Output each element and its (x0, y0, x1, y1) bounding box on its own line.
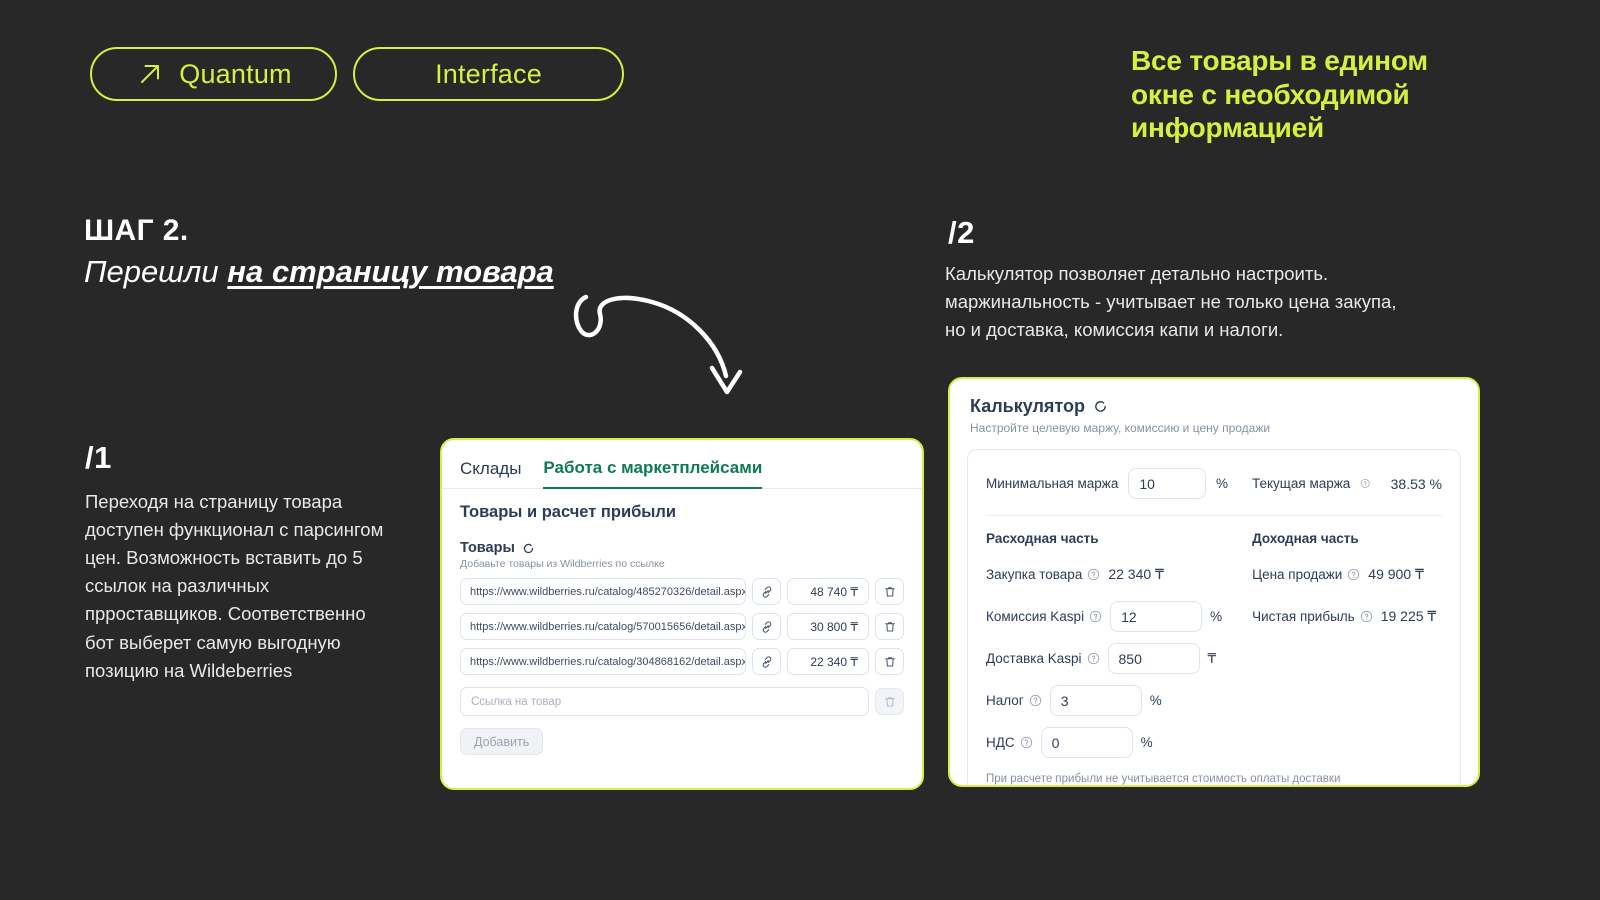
product-price-input[interactable]: 48 740 ₸ (787, 578, 869, 605)
brand-pill-quantum[interactable]: Quantum (90, 47, 337, 101)
product-row: https://www.wildberries.ru/catalog/30486… (460, 648, 904, 675)
expense-input[interactable]: 3 (1050, 685, 1142, 716)
marketplace-card-body: Товары и расчет прибыли Товары Добавьте … (442, 489, 922, 755)
expense-input[interactable]: 850 (1108, 643, 1200, 674)
expense-unit: ₸ (1208, 651, 1217, 667)
product-price-input[interactable]: 22 340 ₸ (787, 648, 869, 675)
step-subtitle-prefix: Перешли (84, 254, 227, 289)
min-margin-label: Минимальная маржа (986, 476, 1118, 491)
expense-label: Комиссия Kaspi (986, 609, 1084, 624)
step-subtitle: Перешли на страницу товара (84, 254, 554, 290)
product-url-input[interactable]: https://www.wildberries.ru/catalog/30486… (460, 648, 746, 675)
income-label: Чистая прибыль (1252, 609, 1355, 624)
trash-icon (883, 655, 897, 669)
current-margin-value: 38.53 % (1391, 476, 1442, 492)
question-circle-icon[interactable] (1089, 610, 1102, 623)
expense-row-commission: Комиссия Kaspi 12 % (986, 601, 1222, 632)
link-icon (760, 655, 774, 669)
new-product-delete-button[interactable] (875, 688, 904, 715)
expense-label: НДС (986, 735, 1015, 750)
question-circle-icon[interactable] (1029, 694, 1042, 707)
expense-heading: Расходная часть (986, 531, 1222, 546)
question-circle-icon[interactable] (1087, 652, 1100, 665)
headline: Все товары в едином окне с необходимой и… (1131, 44, 1471, 145)
products-note: Добавьте товары из Wildberries по ссылке (460, 558, 904, 570)
product-link-button[interactable] (752, 613, 781, 640)
trash-icon (883, 585, 897, 599)
brand-pill-interface-label: Interface (435, 59, 542, 90)
calculator-title-row: Калькулятор (970, 396, 1458, 417)
brand-pill-interface[interactable]: Interface (353, 47, 624, 101)
product-url-input[interactable]: https://www.wildberries.ru/catalog/57001… (460, 613, 746, 640)
refresh-icon[interactable] (522, 542, 535, 555)
section-two-paragraph: Калькулятор позволяет детально настроить… (945, 260, 1415, 344)
margin-row: Минимальная маржа 10 % Текущая маржа 38.… (986, 468, 1442, 516)
expense-unit: % (1150, 693, 1162, 708)
tab-warehouses[interactable]: Склады (460, 459, 521, 488)
products-heading-row: Товары (460, 540, 904, 556)
step-subtitle-emphasis: на страницу товара (227, 254, 554, 289)
expense-row-vat: НДС 0 % (986, 727, 1222, 758)
calculator-card: Калькулятор Настройте целевую маржу, ком… (948, 377, 1480, 787)
refresh-icon[interactable] (1093, 399, 1108, 414)
calculator-header: Калькулятор Настройте целевую маржу, ком… (950, 379, 1478, 435)
trash-icon (883, 620, 897, 634)
product-delete-button[interactable] (875, 613, 904, 640)
product-price-input[interactable]: 30 800 ₸ (787, 613, 869, 640)
product-delete-button[interactable] (875, 578, 904, 605)
question-circle-icon[interactable] (1360, 610, 1373, 623)
question-circle-icon[interactable] (1087, 568, 1100, 581)
expense-row-tax: Налог 3 % (986, 685, 1222, 716)
income-label: Цена продажи (1252, 567, 1342, 582)
product-url-input[interactable]: https://www.wildberries.ru/catalog/48527… (460, 578, 746, 605)
income-value: 49 900 ₸ (1368, 566, 1424, 583)
calculator-subtitle: Настройте целевую маржу, комиссию и цену… (970, 421, 1458, 435)
products-profit-title: Товары и расчет прибыли (460, 503, 904, 522)
income-heading: Доходная часть (1252, 531, 1442, 546)
product-row: https://www.wildberries.ru/catalog/48527… (460, 578, 904, 605)
product-link-button[interactable] (752, 578, 781, 605)
card-tabs: Склады Работа с маркетплейсами (442, 440, 922, 489)
expense-value: 22 340 ₸ (1108, 566, 1164, 583)
poster-canvas: Quantum Interface Все товары в едином ок… (0, 0, 1600, 900)
tab-marketplaces[interactable]: Работа с маркетплейсами (543, 458, 762, 489)
curved-arrow-icon (560, 280, 760, 400)
product-link-button[interactable] (752, 648, 781, 675)
section-one-paragraph: Переходя на страницу товара доступен фун… (85, 488, 385, 685)
link-icon (760, 585, 774, 599)
expense-input[interactable]: 0 (1041, 727, 1133, 758)
expense-row-purchase: Закупка товара 22 340 ₸ (986, 559, 1222, 590)
min-margin-unit: % (1216, 476, 1228, 491)
section-number-two: /2 (948, 215, 975, 251)
trash-icon (883, 695, 897, 709)
question-circle-icon[interactable] (1360, 477, 1370, 490)
min-margin-input[interactable]: 10 (1128, 468, 1206, 499)
expense-unit: % (1141, 735, 1153, 750)
current-margin-label: Текущая маржа (1252, 476, 1350, 491)
new-product-row: Ссылка на товар (460, 687, 904, 716)
income-value: 19 225 ₸ (1381, 608, 1437, 625)
income-column: Доходная часть Цена продажи 49 900 ₸ (1252, 531, 1442, 769)
product-delete-button[interactable] (875, 648, 904, 675)
new-product-url-input[interactable]: Ссылка на товар (460, 687, 869, 716)
step-title: ШАГ 2. (84, 214, 189, 248)
calculator-footnote: При расчете прибыли не учитывается стоим… (986, 769, 1442, 785)
calculator-columns: Расходная часть Закупка товара 22 340 ₸ (986, 516, 1442, 769)
link-icon (760, 620, 774, 634)
expense-column: Расходная часть Закупка товара 22 340 ₸ (986, 531, 1222, 769)
expense-input[interactable]: 12 (1110, 601, 1202, 632)
income-row-net-profit: Чистая прибыль 19 225 ₸ (1252, 601, 1442, 632)
brand-pill-quantum-label: Quantum (179, 59, 291, 90)
question-circle-icon[interactable] (1347, 568, 1360, 581)
arrow-up-right-icon (135, 59, 165, 89)
calculator-panel: Минимальная маржа 10 % Текущая маржа 38.… (967, 449, 1461, 787)
add-product-button[interactable]: Добавить (460, 728, 543, 755)
expense-label: Закупка товара (986, 567, 1082, 582)
marketplace-card: Склады Работа с маркетплейсами Товары и … (440, 438, 924, 790)
section-number-one: /1 (85, 440, 112, 476)
expense-label: Доставка Kaspi (986, 651, 1082, 666)
product-row: https://www.wildberries.ru/catalog/57001… (460, 613, 904, 640)
expense-unit: % (1210, 609, 1222, 624)
expense-label: Налог (986, 693, 1024, 708)
expense-row-delivery: Доставка Kaspi 850 ₸ (986, 643, 1222, 674)
calculator-title: Калькулятор (970, 396, 1085, 417)
products-heading-label: Товары (460, 540, 515, 556)
income-row-sale-price: Цена продажи 49 900 ₸ (1252, 559, 1442, 590)
question-circle-icon[interactable] (1020, 736, 1033, 749)
